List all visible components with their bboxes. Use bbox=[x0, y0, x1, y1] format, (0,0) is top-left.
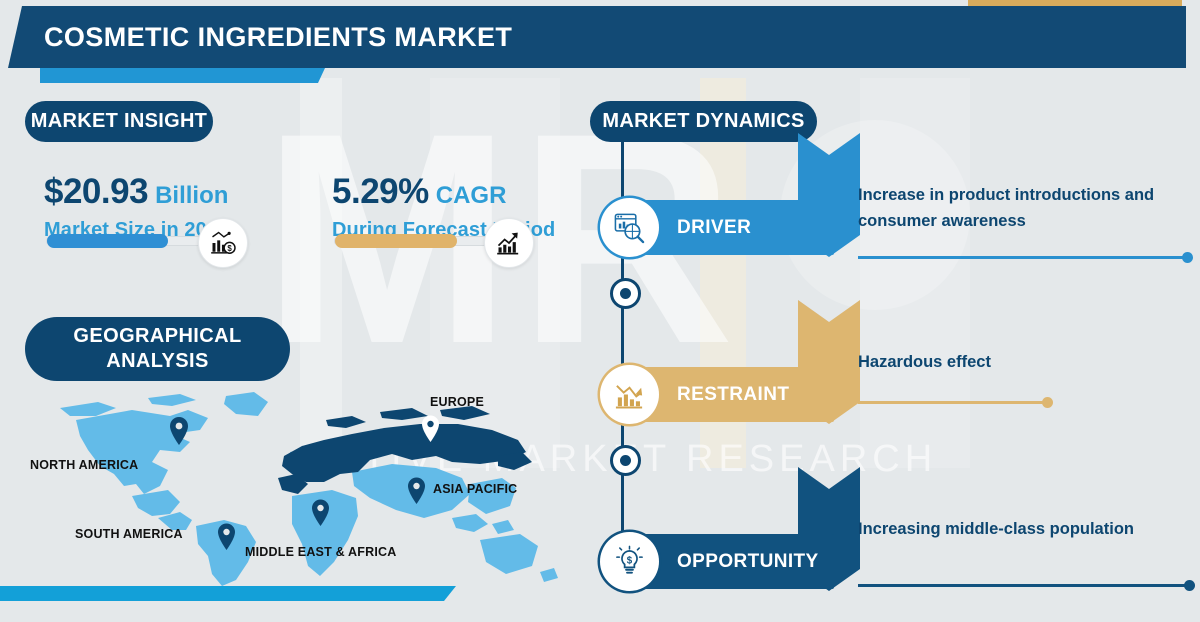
badge-geographical-analysis: GEOGRAPHICAL ANALYSIS bbox=[25, 317, 290, 381]
dynamics-label: RESTRAINT bbox=[677, 367, 789, 422]
world-map: NORTH AMERICA SOUTH AMERICA MIDDLE EAST … bbox=[40, 390, 570, 590]
kpi-progress-fill bbox=[47, 234, 168, 248]
map-label-south-america: SOUTH AMERICA bbox=[75, 527, 183, 541]
header: COSMETIC INGREDIENTS MARKET bbox=[0, 6, 1200, 68]
declining-bar-chart-icon bbox=[600, 365, 659, 424]
lightbulb-dollar-icon: $ bbox=[600, 532, 659, 591]
kpi-value-row: $20.93Billion bbox=[44, 172, 284, 212]
svg-text:$: $ bbox=[227, 244, 232, 253]
kpi-unit: CAGR bbox=[436, 182, 507, 209]
dynamics-end-dot bbox=[1184, 580, 1195, 591]
kpi-market-size: $20.93Billion Market Size in 2024 $ bbox=[44, 172, 284, 242]
map-label-asia-pacific: ASIA PACIFIC bbox=[433, 482, 517, 496]
badge-geo-line1: GEOGRAPHICAL bbox=[73, 324, 241, 349]
dynamics-end-dot bbox=[1042, 397, 1053, 408]
growth-arrow-chart-icon bbox=[484, 218, 534, 268]
kpi-cagr: 5.29%CAGR During Forecast Period bbox=[332, 172, 577, 242]
dynamics-description: Increasing middle-class population bbox=[858, 516, 1188, 542]
dynamics-description: Increase in product introductions and co… bbox=[858, 182, 1188, 234]
dynamics-underline bbox=[858, 401, 1048, 404]
dynamics-bar: DRIVER bbox=[622, 200, 834, 255]
dynamics-item-restraint: RESTRAINT Hazardous effect bbox=[600, 335, 1200, 455]
footer-accent-bar bbox=[0, 586, 456, 601]
page-title: COSMETIC INGREDIENTS MARKET bbox=[44, 6, 512, 68]
research-analytics-icon bbox=[600, 198, 659, 257]
dynamics-underline bbox=[858, 584, 1190, 587]
map-label-europe: EUROPE bbox=[430, 395, 484, 409]
dynamics-label: DRIVER bbox=[677, 200, 751, 255]
map-label-north-america: NORTH AMERICA bbox=[30, 458, 138, 472]
header-accent-bar bbox=[40, 68, 325, 83]
badge-market-insight: MARKET INSIGHT bbox=[25, 101, 213, 142]
dynamics-end-dot bbox=[1182, 252, 1193, 263]
dynamics-underline bbox=[858, 256, 1188, 259]
kpi-progress-fill bbox=[335, 234, 457, 248]
dynamics-description: Hazardous effect bbox=[858, 349, 1188, 375]
kpi-value: $20.93 bbox=[44, 172, 148, 211]
svg-text:$: $ bbox=[627, 555, 633, 566]
badge-market-dynamics: MARKET DYNAMICS bbox=[590, 101, 817, 142]
dynamics-label: OPPORTUNITY bbox=[677, 534, 819, 589]
infographic-canvas: MR ECTIVE MARKET RESEARCH COSMETIC INGRE… bbox=[0, 0, 1200, 600]
kpi-value-row: 5.29%CAGR bbox=[332, 172, 577, 212]
bar-chart-dollar-icon: $ bbox=[198, 218, 248, 268]
dynamics-item-driver: DRIVER Increase in product bbox=[600, 168, 1200, 288]
kpi-unit: Billion bbox=[155, 182, 228, 209]
badge-geo-line2: ANALYSIS bbox=[73, 349, 241, 374]
map-label-middle-east-africa: MIDDLE EAST & AFRICA bbox=[245, 545, 396, 559]
dynamics-bar: OPPORTUNITY $ bbox=[622, 534, 834, 589]
kpi-value: 5.29% bbox=[332, 172, 429, 211]
dynamics-bar: RESTRAINT bbox=[622, 367, 834, 422]
dynamics-item-opportunity: OPPORTUNITY $ Increasing midd bbox=[600, 502, 1200, 622]
